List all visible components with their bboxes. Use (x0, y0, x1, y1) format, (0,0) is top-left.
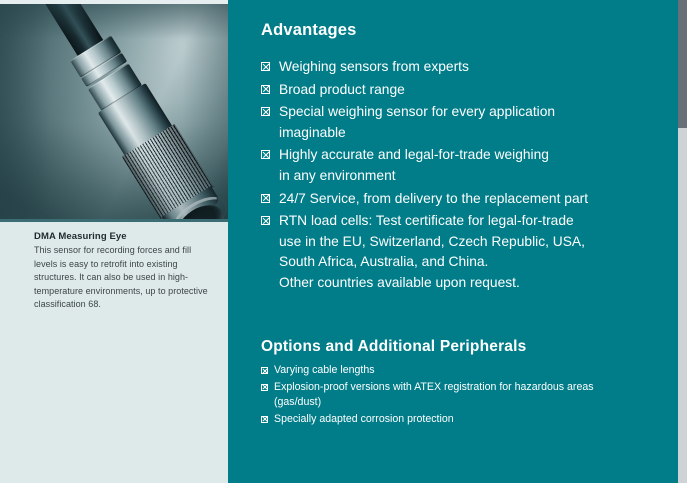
list-item: Varying cable lengths (261, 363, 661, 379)
list-item-label: RTN load cells: Test certificate for leg… (279, 211, 585, 293)
left-column: DMA Measuring Eye This sensor for record… (0, 0, 228, 483)
options-list: Varying cable lengths Explosion-proof ve… (261, 363, 661, 428)
advantages-heading: Advantages (261, 21, 357, 40)
advantages-list: Weighing sensors from experts Broad prod… (261, 57, 661, 296)
checkbox-cross-icon (261, 150, 270, 159)
list-item-label: Explosion-proof versions with ATEX regis… (274, 380, 594, 411)
photo-vignette (0, 4, 228, 222)
checkbox-cross-icon (261, 367, 268, 374)
checkbox-cross-icon (261, 85, 270, 94)
list-item: 24/7 Service, from delivery to the repla… (261, 189, 661, 210)
checkbox-cross-icon (261, 416, 268, 423)
checkbox-cross-icon (261, 384, 268, 391)
photo-bottom-edge (0, 219, 228, 222)
panel-top-cover (228, 0, 667, 4)
product-photo (0, 4, 228, 222)
checkbox-cross-icon (261, 107, 270, 116)
list-item: Weighing sensors from experts (261, 57, 661, 78)
list-item-label: Specially adapted corrosion protection (274, 412, 454, 428)
list-item-label: Varying cable lengths (274, 363, 375, 379)
checkbox-cross-icon (261, 216, 270, 225)
caption-body: This sensor for recording forces and fil… (34, 244, 214, 311)
right-edge-dark-gray-bar (678, 0, 687, 128)
right-edge-light-gray-bar (678, 128, 687, 483)
checkbox-cross-icon (261, 194, 270, 203)
list-item-label: Weighing sensors from experts (279, 57, 469, 78)
list-item: Broad product range (261, 80, 661, 101)
right-edge-teal-bar (667, 0, 678, 483)
list-item-label: Special weighing sensor for every applic… (279, 102, 555, 143)
caption-title: DMA Measuring Eye (34, 230, 214, 243)
list-item: Explosion-proof versions with ATEX regis… (261, 380, 661, 411)
list-item: Highly accurate and legal-for-trade weig… (261, 145, 661, 186)
list-item: Special weighing sensor for every applic… (261, 102, 661, 143)
list-item-label: Broad product range (279, 80, 405, 101)
checkbox-cross-icon (261, 62, 270, 71)
photo-caption: DMA Measuring Eye This sensor for record… (34, 230, 214, 311)
list-item: RTN load cells: Test certificate for leg… (261, 211, 661, 293)
options-heading: Options and Additional Peripherals (261, 338, 526, 356)
list-item: Specially adapted corrosion protection (261, 412, 661, 428)
content-panel: Advantages Weighing sensors from experts… (228, 0, 667, 483)
brochure-page: DMA Measuring Eye This sensor for record… (0, 0, 687, 483)
list-item-label: Highly accurate and legal-for-trade weig… (279, 145, 549, 186)
list-item-label: 24/7 Service, from delivery to the repla… (279, 189, 588, 210)
